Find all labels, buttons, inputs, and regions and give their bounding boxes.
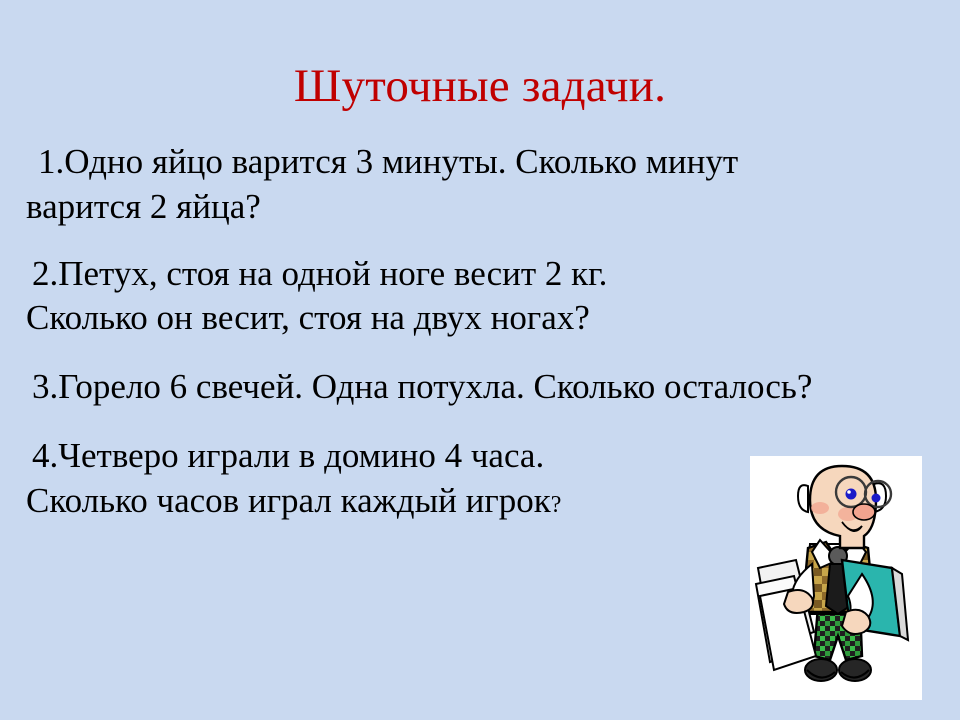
task-1-line-1: 1.Одно яйцо варится 3 минуты. Сколько ми… (38, 142, 738, 181)
eye-highlight (847, 490, 851, 494)
page-title: Шуточные задачи. (0, 62, 960, 111)
task-4-question-mark: ? (551, 492, 562, 518)
task-2-line-2: Сколько он весит, стоя на двух ногах? (26, 298, 590, 337)
task-4-line-1: 4.Четверо играли в домино 4 часа. (32, 436, 544, 475)
task-item-2: 2.Петух, стоя на одной ноге весит 2 кг. … (26, 252, 928, 342)
cheek-left (811, 502, 829, 514)
eye-right (872, 494, 881, 503)
nose (853, 504, 875, 520)
task-1-line-2: варится 2 яйца? (26, 187, 261, 226)
eye-left (846, 489, 857, 500)
hand-left (784, 590, 813, 613)
slide-canvas: Шуточные задачи. 1.Одно яйцо варится 3 м… (0, 0, 960, 720)
hand-right (842, 610, 870, 634)
task-4-line-2: Сколько часов играл каждый игрок (26, 481, 551, 520)
task-3-text: 3.Горело 6 свечей. Одна потухла. Сколько… (32, 367, 812, 406)
professor-teacher-clipart (750, 456, 922, 700)
task-2-line-1: 2.Петух, стоя на одной ноге весит 2 кг. (32, 254, 607, 293)
task-item-1: 1.Одно яйцо варится 3 минуты. Сколько ми… (26, 140, 928, 230)
task-item-3: 3.Горело 6 свечей. Одна потухла. Сколько… (26, 365, 928, 410)
professor-illustration-svg (750, 456, 922, 700)
